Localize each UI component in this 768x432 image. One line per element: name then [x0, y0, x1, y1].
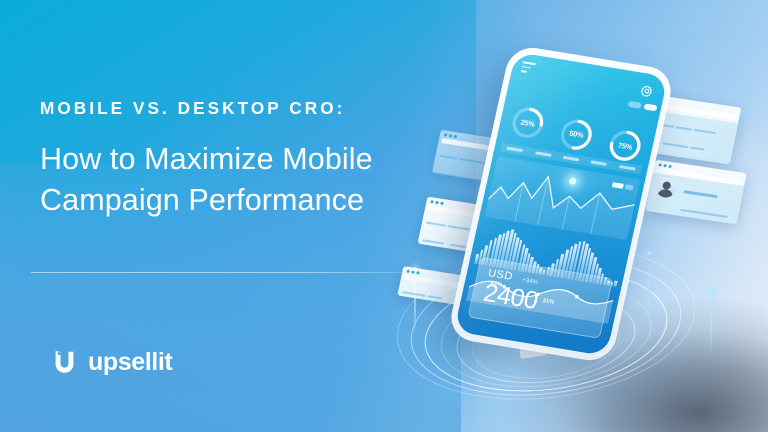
- brand-name: upsellit: [88, 350, 172, 375]
- gear-icon[interactable]: [639, 84, 655, 99]
- hero-banner: MOBILE VS. DESKTOP CRO: How to Maximize …: [0, 0, 768, 432]
- hero-eyebrow: MOBILE VS. DESKTOP CRO:: [40, 98, 440, 119]
- headline-line-2: Campaign Performance: [40, 180, 440, 221]
- headline-line-1: How to Maximize Mobile: [40, 139, 440, 180]
- device-artwork: 25% 50% 75%: [392, 18, 768, 432]
- gauge-label: 25%: [505, 101, 551, 144]
- tab-item[interactable]: [507, 147, 523, 152]
- gauge-label: 50%: [554, 113, 600, 156]
- card-placeholder-lines: [670, 182, 739, 224]
- light-streak-dot: [647, 251, 651, 255]
- page-title: How to Maximize Mobile Campaign Performa…: [40, 139, 440, 221]
- tab-item[interactable]: [535, 152, 551, 157]
- tab-item[interactable]: [563, 156, 579, 161]
- brand-logo[interactable]: upsellit: [50, 348, 172, 377]
- light-streak: [710, 294, 712, 352]
- floating-card-profile[interactable]: [645, 160, 746, 225]
- light-streak: [648, 254, 650, 330]
- upsellit-u-arrow-logo-icon: [50, 348, 79, 377]
- tab-item[interactable]: [591, 161, 607, 166]
- hero-divider: [31, 272, 412, 273]
- tab-item[interactable]: [619, 165, 635, 170]
- hero-text-block: MOBILE VS. DESKTOP CRO: How to Maximize …: [40, 98, 440, 220]
- gauge-25: 25%: [505, 101, 551, 144]
- gauge-50: 50%: [554, 113, 600, 156]
- light-streak-dot: [709, 291, 713, 295]
